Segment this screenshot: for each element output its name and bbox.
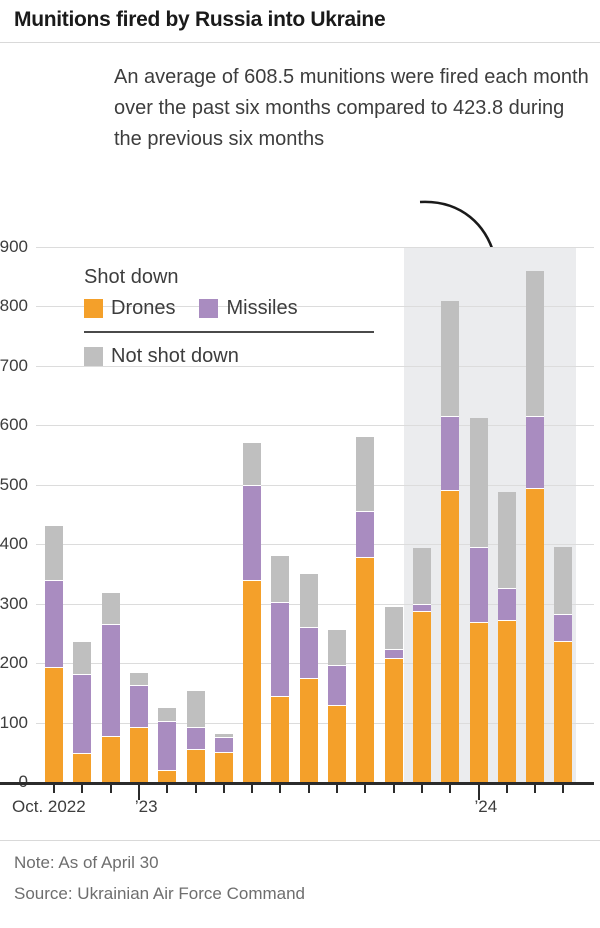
legend-group-header: Shot down	[84, 266, 374, 289]
legend-item-not-shot-down[interactable]: Not shot down	[84, 345, 239, 368]
bar-5[interactable]	[187, 691, 205, 782]
bar-2[interactable]	[102, 593, 120, 782]
segment-not-shot-down	[45, 526, 63, 580]
segment-drones	[215, 752, 233, 782]
x-axis-tick	[81, 785, 83, 793]
segment-not-shot-down	[243, 443, 261, 485]
segment-missiles	[413, 604, 431, 612]
segment-missiles	[356, 511, 374, 557]
x-axis-label-0: Oct. 2022	[12, 797, 86, 817]
segment-not-shot-down	[271, 556, 289, 602]
x-axis-tick	[223, 785, 225, 793]
not-shot-down-swatch-icon	[84, 347, 103, 366]
y-axis-tick-label: 600	[0, 415, 28, 435]
segment-drones	[498, 620, 516, 782]
legend-label-drones: Drones	[111, 297, 175, 320]
segment-missiles	[73, 674, 91, 753]
segment-missiles	[271, 602, 289, 696]
segment-drones	[130, 727, 148, 782]
segment-missiles	[45, 581, 63, 668]
segment-missiles	[470, 547, 488, 621]
bar-9[interactable]	[300, 574, 318, 782]
segment-missiles	[554, 614, 572, 641]
gridline	[36, 485, 594, 486]
gridline	[36, 247, 594, 248]
legend-item-missiles[interactable]: Missiles	[199, 297, 297, 320]
segment-not-shot-down	[328, 630, 346, 664]
x-axis-tick	[53, 785, 55, 793]
gridline	[36, 425, 594, 426]
bar-8[interactable]	[271, 556, 289, 782]
x-axis-tick	[364, 785, 366, 793]
x-axis-label-1: ’23	[135, 797, 158, 817]
segment-missiles	[187, 727, 205, 750]
segment-missiles	[328, 665, 346, 705]
title-divider	[0, 42, 600, 43]
x-axis-tick	[195, 785, 197, 793]
y-axis-tick-label: 500	[0, 475, 28, 495]
segment-not-shot-down	[470, 418, 488, 547]
segment-not-shot-down	[130, 673, 148, 685]
segment-drones	[45, 667, 63, 782]
y-axis-tick-label: 100	[0, 713, 28, 733]
segment-missiles	[441, 416, 459, 490]
x-axis-tick	[562, 785, 564, 793]
segment-not-shot-down	[498, 492, 516, 588]
y-axis-tick-label: 800	[0, 296, 28, 316]
bar-12[interactable]	[385, 607, 403, 782]
bar-14[interactable]	[441, 301, 459, 783]
legend-label-not-shot-down: Not shot down	[111, 345, 239, 368]
legend-row-shot-down: Drones Missiles	[84, 297, 374, 320]
bar-4[interactable]	[158, 708, 176, 782]
segment-not-shot-down	[158, 708, 176, 722]
segment-missiles	[243, 485, 261, 580]
segment-drones	[385, 658, 403, 782]
x-axis-tick	[506, 785, 508, 793]
legend-item-drones[interactable]: Drones	[84, 297, 175, 320]
bar-0[interactable]	[45, 526, 63, 782]
segment-drones	[526, 488, 544, 782]
bar-7[interactable]	[243, 443, 261, 782]
x-axis-tick	[279, 785, 281, 793]
segment-drones	[243, 580, 261, 782]
chart-note: Note: As of April 30	[14, 853, 159, 873]
x-axis-tick	[308, 785, 310, 793]
segment-drones	[300, 678, 318, 782]
segment-missiles	[385, 649, 403, 659]
segment-drones	[470, 622, 488, 783]
segment-drones	[271, 696, 289, 782]
segment-missiles	[130, 685, 148, 727]
y-axis-tick-label: 200	[0, 653, 28, 673]
segment-drones	[413, 611, 431, 782]
x-axis-label-2: ’24	[475, 797, 498, 817]
y-axis-tick-label: 400	[0, 534, 28, 554]
missiles-swatch-icon	[199, 299, 218, 318]
x-axis-tick	[336, 785, 338, 793]
bar-1[interactable]	[73, 642, 91, 782]
x-axis-tick	[110, 785, 112, 793]
legend-divider	[84, 331, 374, 333]
x-axis-tick	[534, 785, 536, 793]
drones-swatch-icon	[84, 299, 103, 318]
x-axis-tick	[421, 785, 423, 793]
x-axis-tick	[449, 785, 451, 793]
footer-divider	[0, 840, 600, 841]
segment-not-shot-down	[413, 548, 431, 603]
bar-13[interactable]	[413, 548, 431, 782]
segment-missiles	[102, 624, 120, 735]
legend: Shot down Drones Missiles Not shot down	[84, 266, 374, 368]
segment-drones	[328, 705, 346, 782]
segment-not-shot-down	[385, 607, 403, 649]
bar-16[interactable]	[498, 492, 516, 782]
segment-drones	[187, 749, 205, 782]
bar-6[interactable]	[215, 734, 233, 782]
segment-missiles	[158, 721, 176, 770]
legend-row-not-shot-down: Not shot down	[84, 345, 374, 368]
segment-not-shot-down	[526, 271, 544, 417]
bar-15[interactable]	[470, 418, 488, 782]
segment-not-shot-down	[187, 691, 205, 727]
chart-source: Source: Ukrainian Air Force Command	[14, 884, 305, 904]
segment-drones	[158, 770, 176, 782]
y-axis-tick-label: 900	[0, 237, 28, 257]
segment-not-shot-down	[554, 547, 572, 614]
segment-not-shot-down	[356, 437, 374, 511]
segment-not-shot-down	[441, 301, 459, 416]
segment-drones	[554, 641, 572, 782]
y-axis-tick-label: 700	[0, 356, 28, 376]
segment-not-shot-down	[73, 642, 91, 675]
x-axis-tick	[251, 785, 253, 793]
segment-drones	[73, 753, 91, 782]
chart-page: Munitions fired by Russia into Ukraine A…	[0, 0, 600, 928]
segment-not-shot-down	[215, 734, 233, 737]
segment-not-shot-down	[102, 593, 120, 625]
segment-missiles	[300, 627, 318, 678]
segment-missiles	[526, 416, 544, 487]
bar-11[interactable]	[356, 437, 374, 782]
bar-3[interactable]	[130, 673, 148, 782]
bar-10[interactable]	[328, 630, 346, 782]
segment-drones	[102, 736, 120, 782]
segment-not-shot-down	[300, 574, 318, 628]
annotation-text: An average of 608.5 munitions were fired…	[114, 62, 592, 155]
page-title: Munitions fired by Russia into Ukraine	[14, 8, 385, 32]
y-axis-tick-label: 300	[0, 594, 28, 614]
segment-drones	[356, 557, 374, 782]
x-axis-tick	[393, 785, 395, 793]
bar-17[interactable]	[526, 271, 544, 782]
segment-drones	[441, 490, 459, 782]
x-axis-tick	[166, 785, 168, 793]
segment-missiles	[498, 588, 516, 620]
bar-18[interactable]	[554, 547, 572, 782]
legend-label-missiles: Missiles	[226, 297, 297, 320]
segment-missiles	[215, 737, 233, 752]
